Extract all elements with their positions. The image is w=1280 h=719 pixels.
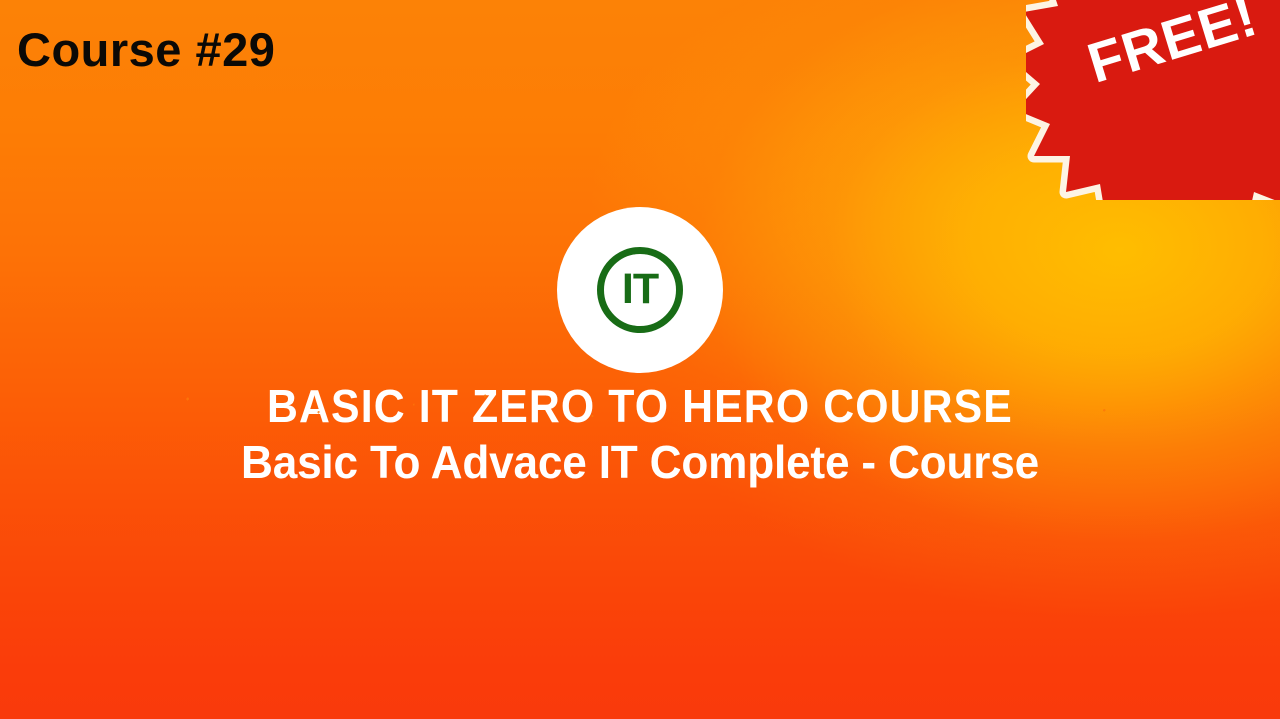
free-badge: FREE! — [1026, 0, 1280, 200]
course-promo-banner: Course #29 FREE! IT Basic IT Zero To Her… — [0, 0, 1280, 719]
free-badge-fill — [1026, 0, 1280, 200]
it-logo: IT — [557, 207, 723, 373]
course-number-label: Course #29 — [17, 26, 275, 73]
it-logo-label: IT — [622, 268, 658, 311]
free-badge-burst-shape — [1026, 0, 1280, 200]
free-badge-label: FREE! — [1080, 0, 1264, 95]
it-logo-ring-icon: IT — [597, 247, 683, 333]
free-badge-outline — [1026, 0, 1280, 200]
page-subtitle: Basic To Advace IT Complete - Course — [26, 438, 1255, 488]
page-title: Basic IT Zero To Hero Course — [45, 383, 1235, 430]
headline-block: Basic IT Zero To Hero Course Basic To Ad… — [0, 383, 1280, 488]
